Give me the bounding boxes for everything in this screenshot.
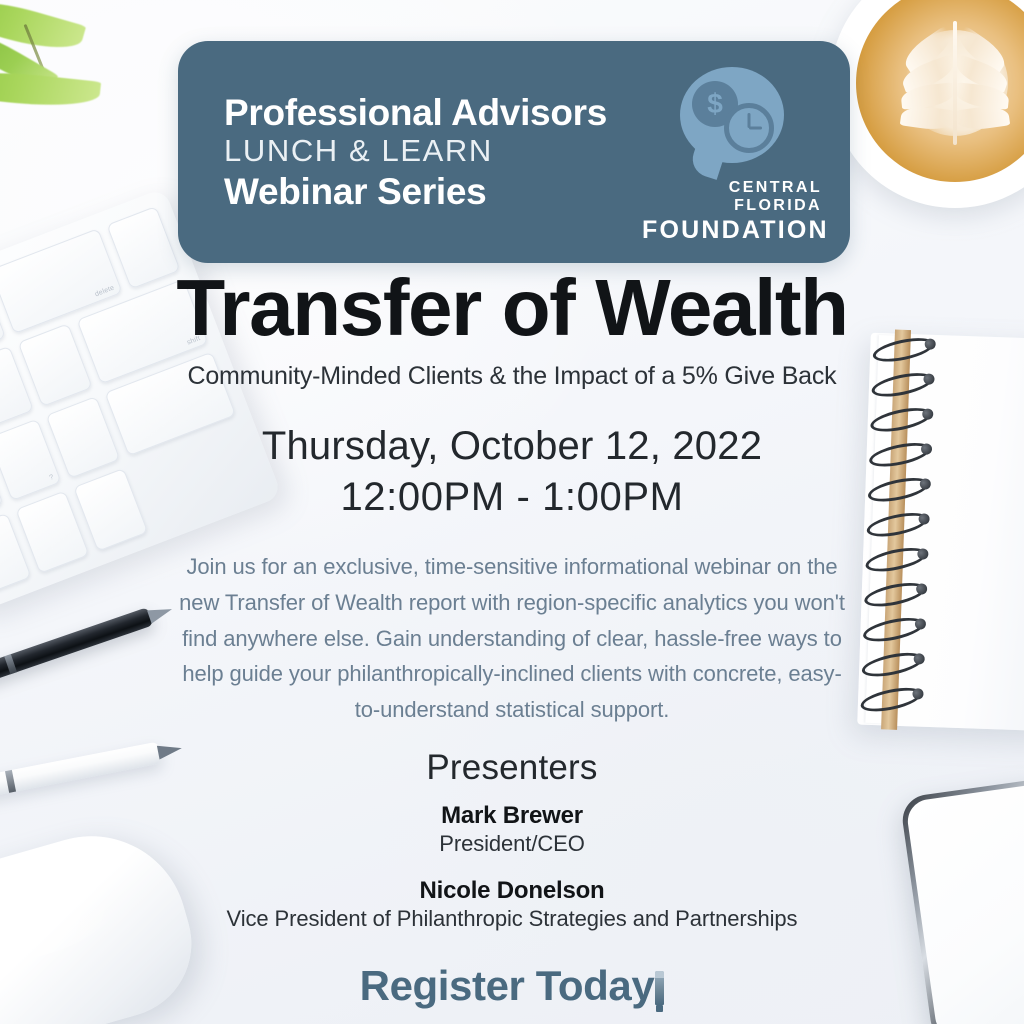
latte-cup-photo: [830, 0, 1024, 208]
banner-line-2: LUNCH & LEARN: [224, 132, 607, 172]
org-name-line-1: CENTRAL FLORIDA: [642, 179, 822, 215]
clock-icon: [724, 103, 774, 153]
presenter-block: Mark Brewer President/CEO: [0, 802, 1024, 857]
header-banner: Professional Advisors LUNCH & LEARN Webi…: [178, 41, 850, 263]
dollar-symbol: $: [707, 90, 723, 118]
presenter-block: Nicole Donelson Vice President of Philan…: [0, 877, 1024, 932]
presenter-role: Vice President of Philanthropic Strategi…: [0, 906, 1024, 932]
leaf-icon: [0, 0, 86, 59]
page-subtitle: Community-Minded Clients & the Impact of…: [0, 362, 1024, 391]
coffee-surface: [856, 0, 1024, 182]
register-today-cta[interactable]: Register Today: [360, 962, 665, 1010]
event-description: Join us for an exclusive, time-sensitive…: [174, 549, 850, 727]
event-time: 12:00PM - 1:00PM: [0, 472, 1024, 523]
org-name-line-2: FOUNDATION: [642, 216, 822, 245]
pencil-icon: [655, 971, 664, 1005]
presenter-name: Mark Brewer: [0, 802, 1024, 830]
bamboo-leaves-decoration: [0, 0, 180, 150]
banner-line-1: Professional Advisors: [224, 93, 607, 132]
presenters-heading: Presenters: [0, 748, 1024, 788]
central-florida-foundation-logo: $ CENTRAL FLORIDA FOUNDATION: [642, 67, 822, 245]
plant-stem: [23, 24, 46, 75]
crema: [902, 30, 1008, 136]
cta-label: Register Today: [360, 962, 655, 1010]
logo-wordmark: CENTRAL FLORIDA FOUNDATION: [642, 179, 822, 245]
speech-bubble-icon: $: [680, 67, 784, 163]
page-title: Transfer of Wealth: [0, 268, 1024, 348]
webinar-flyer: F12Deldeleteshift? Professional Advisors…: [0, 0, 1024, 1024]
presenter-name: Nicole Donelson: [0, 877, 1024, 905]
leaf-icon: [0, 66, 101, 112]
flyer-content: Transfer of Wealth Community-Minded Clie…: [0, 268, 1024, 1010]
presenter-role: President/CEO: [0, 831, 1024, 857]
leaf-icon: [0, 20, 58, 97]
event-date: Thursday, October 12, 2022: [0, 421, 1024, 472]
banner-line-3: Webinar Series: [224, 172, 607, 211]
banner-title-group: Professional Advisors LUNCH & LEARN Webi…: [178, 93, 607, 211]
